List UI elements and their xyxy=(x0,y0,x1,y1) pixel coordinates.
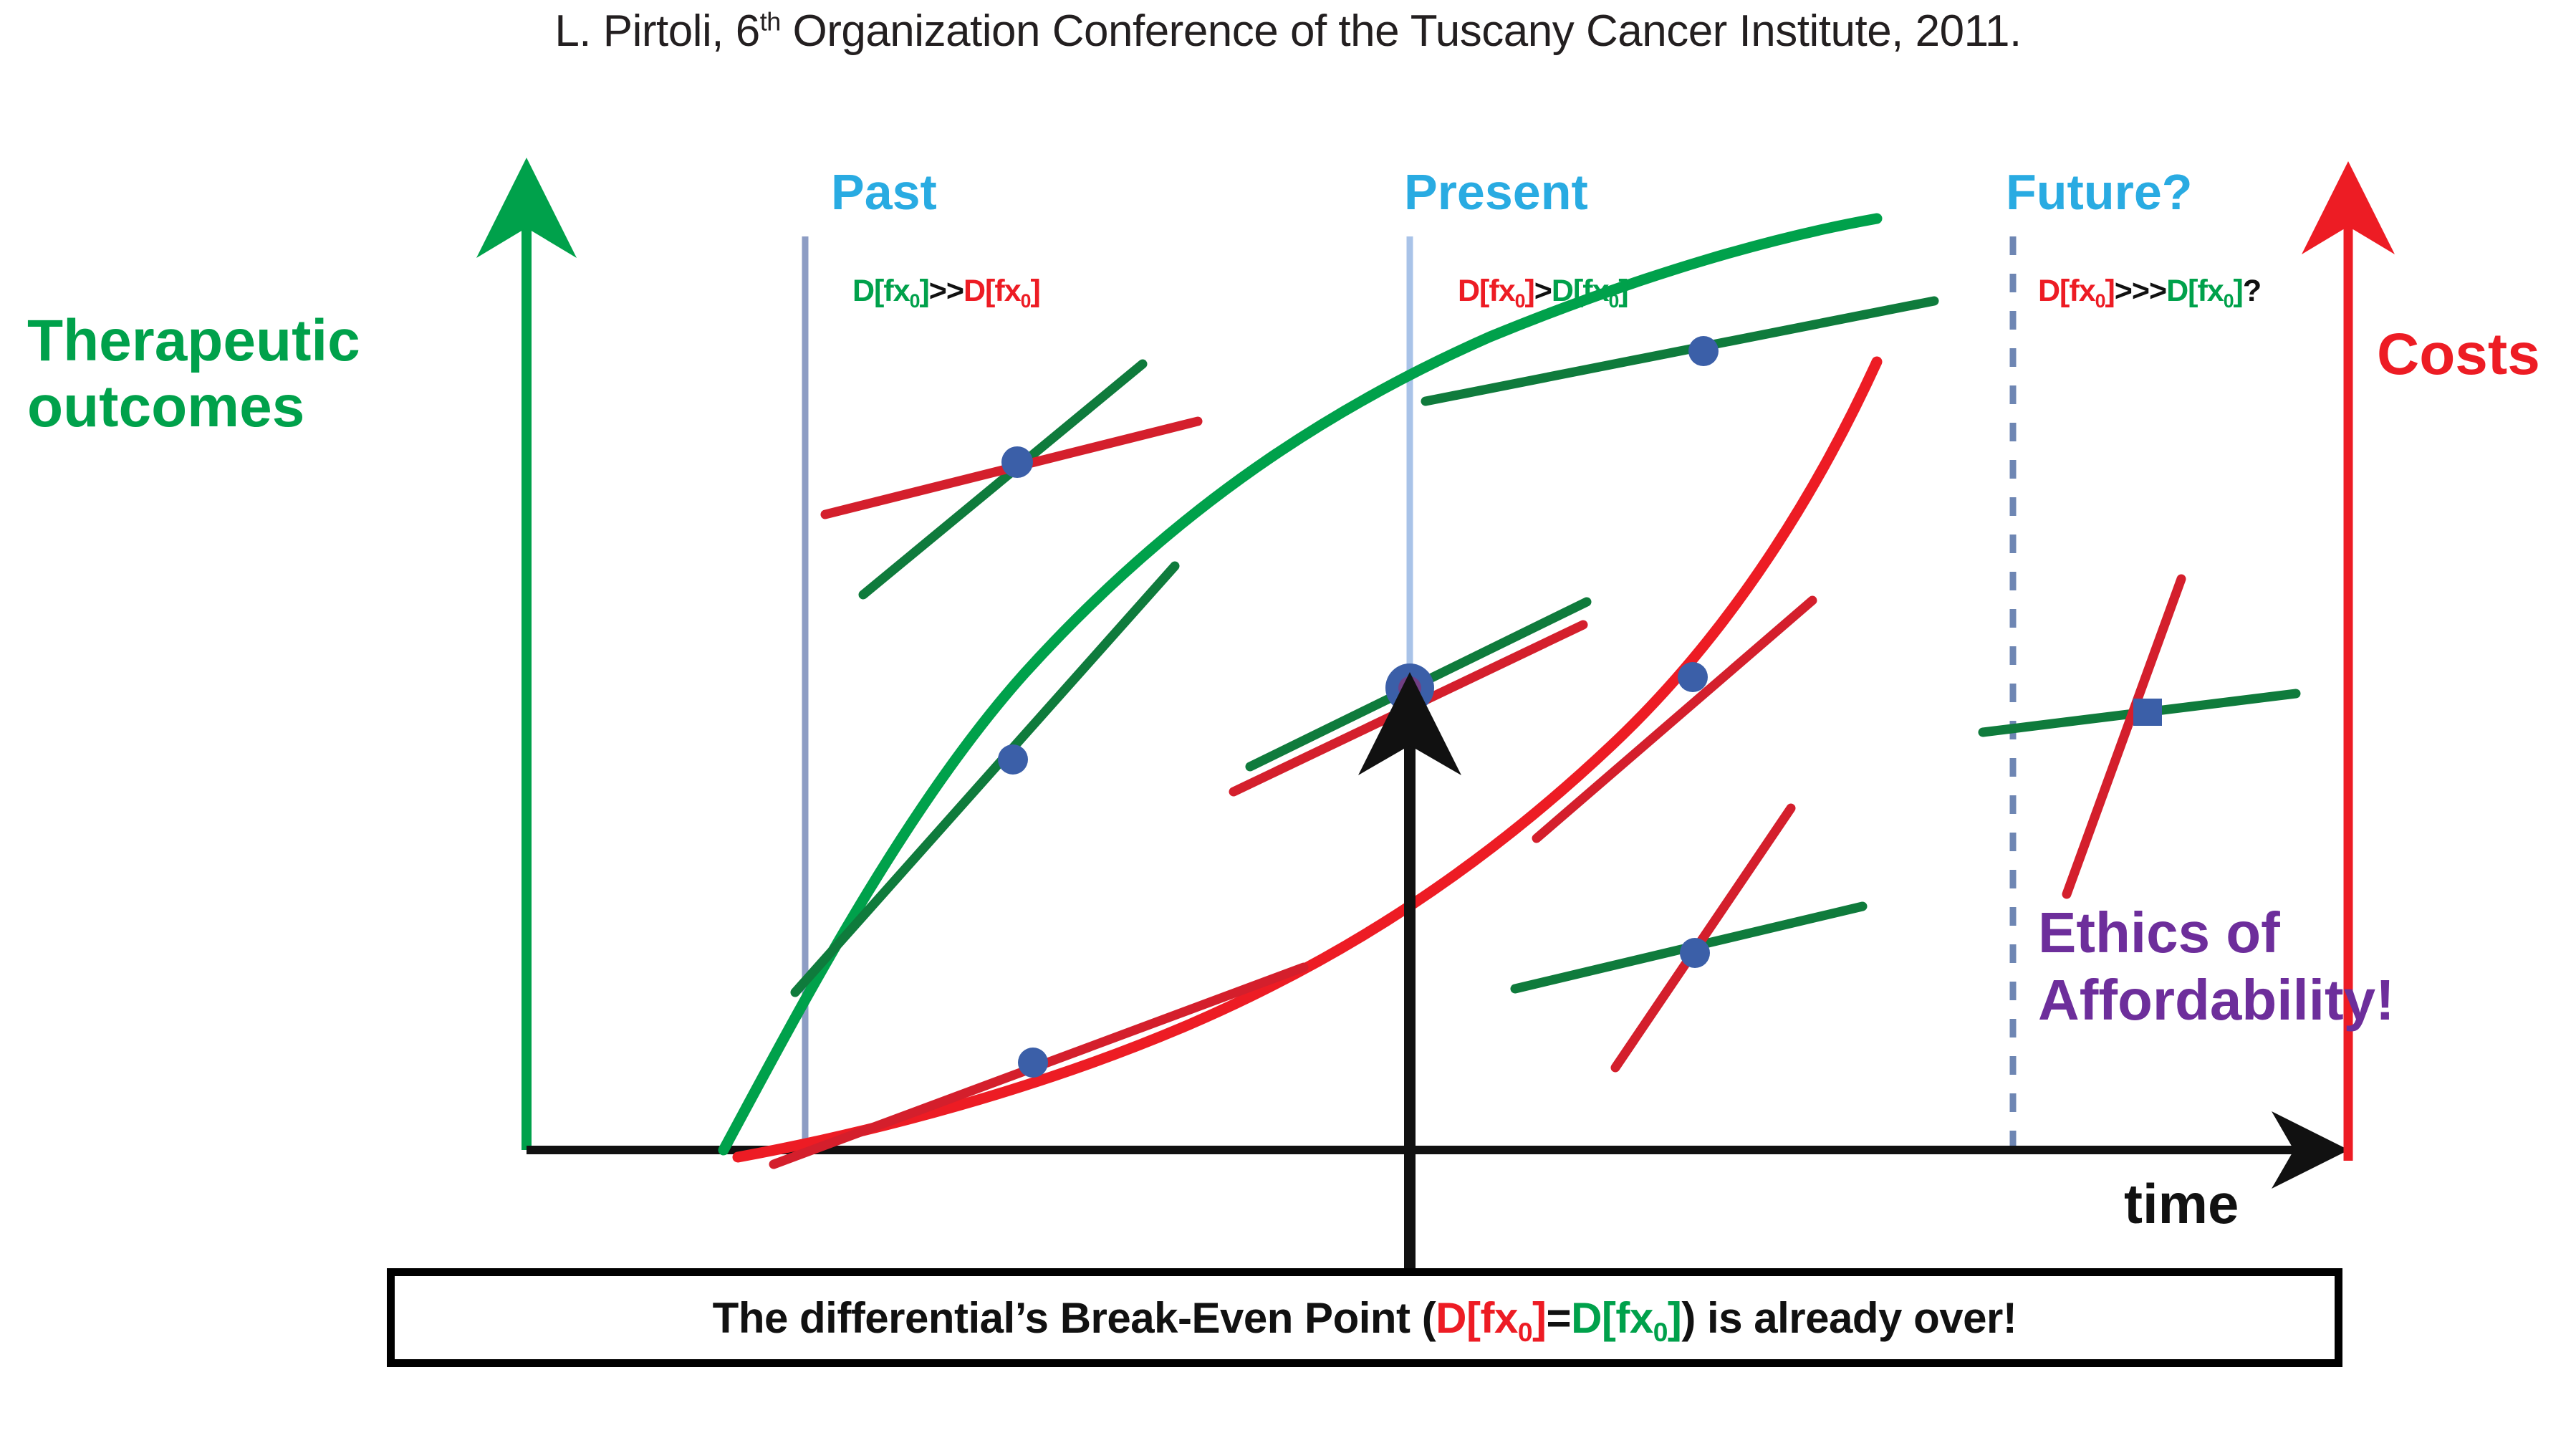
present-lower-red-steep xyxy=(1615,808,1791,1068)
x-axis-label: time xyxy=(2124,1171,2239,1237)
present-lhs-sub: 0 xyxy=(1515,290,1525,312)
present-operator: > xyxy=(1534,274,1552,308)
annotation-present: D[fx0]>D[fx0] xyxy=(1458,274,1628,309)
y-axis-label: Therapeutic outcomes xyxy=(27,308,486,440)
past-tangent-green-steep xyxy=(863,364,1143,595)
present-curve-tangent-green xyxy=(1426,301,1934,401)
present-lower-tangent-pair xyxy=(1515,808,1863,1068)
future-tangent-red-steep xyxy=(2067,579,2181,894)
past-operator: >> xyxy=(929,274,963,308)
break-even-caption-text: The differential’s Break-Even Point (D[f… xyxy=(713,1293,2017,1343)
present-rhs-sub: 0 xyxy=(1609,290,1619,312)
future-lhs-sub: 0 xyxy=(2095,290,2105,312)
future-tangent-point xyxy=(2133,699,2162,726)
present-lhs-close: ] xyxy=(1524,274,1534,308)
past-rhs-close: ] xyxy=(1030,274,1039,308)
future-operator: >>> xyxy=(2115,274,2166,308)
caption-green-close: ] xyxy=(1668,1294,1681,1342)
future-lhs: D[fx xyxy=(2038,274,2095,308)
ethics-line2: Affordability! xyxy=(2038,967,2395,1034)
past-lhs-close: ] xyxy=(919,274,928,308)
future-rhs-close: ] xyxy=(2234,274,2243,308)
caption-red-close: ] xyxy=(1532,1294,1546,1342)
past-curve-tangent-green xyxy=(795,566,1175,992)
present-red-secant xyxy=(1537,600,1812,838)
caption-red-sub: 0 xyxy=(1518,1317,1532,1347)
past-lhs: D[fx xyxy=(852,274,910,308)
past-curve-tangent-red xyxy=(774,967,1304,1164)
present-rhs: D[fx xyxy=(1552,274,1609,308)
caption-green-sub: 0 xyxy=(1653,1317,1668,1347)
present-green-secant xyxy=(1426,301,1934,401)
past-lhs-sub: 0 xyxy=(910,290,920,312)
future-tangent-pair xyxy=(1983,579,2296,894)
period-label-future: Future? xyxy=(2006,163,2193,221)
present-lower-tangent-point xyxy=(1680,938,1710,968)
present-curve-tangent-red xyxy=(1537,600,1812,838)
past-red-curve-point xyxy=(1018,1048,1048,1078)
future-rhs-sub: 0 xyxy=(2224,290,2234,312)
present-rhs-close: ] xyxy=(1618,274,1628,308)
period-label-past: Past xyxy=(831,163,937,221)
annotation-future: D[fx0]>>>D[fx0]? xyxy=(2038,274,2261,309)
break-even-point-inner xyxy=(1398,676,1421,699)
caption-part1: The differential’s Break-Even Point ( xyxy=(713,1294,1436,1342)
caption-green: D[fx xyxy=(1571,1294,1653,1342)
past-tangent-point xyxy=(1001,446,1033,478)
past-green-secant xyxy=(795,566,1175,992)
period-label-present: Present xyxy=(1404,163,1588,221)
future-lhs-close: ] xyxy=(2105,274,2114,308)
past-rhs-sub: 0 xyxy=(1021,290,1031,312)
ethics-callout: Ethics of Affordability! xyxy=(2038,899,2395,1035)
annotation-past: D[fx0]>>D[fx0] xyxy=(852,274,1040,309)
y-axis-label-line2: outcomes xyxy=(27,374,486,440)
future-rhs: D[fx xyxy=(2166,274,2224,308)
y-axis-label-line1: Therapeutic xyxy=(27,308,486,374)
break-even-caption-box: The differential’s Break-Even Point (D[f… xyxy=(387,1268,2342,1367)
caption-red: D[fx xyxy=(1436,1294,1518,1342)
present-lhs: D[fx xyxy=(1458,274,1515,308)
ethics-line1: Ethics of xyxy=(2038,899,2395,967)
future-question-mark: ? xyxy=(2243,274,2261,308)
caption-equals: = xyxy=(1547,1294,1572,1342)
past-green-curve-point xyxy=(998,744,1028,775)
past-rhs: D[fx xyxy=(963,274,1021,308)
present-green-curve-point xyxy=(1688,336,1719,366)
slide-canvas: L. Pirtoli, 6th Organization Conference … xyxy=(0,0,2576,1433)
caption-part2: ) is already over! xyxy=(1681,1294,2017,1342)
present-red-curve-point xyxy=(1678,662,1708,692)
cost-axis-label: Costs xyxy=(2377,321,2540,388)
